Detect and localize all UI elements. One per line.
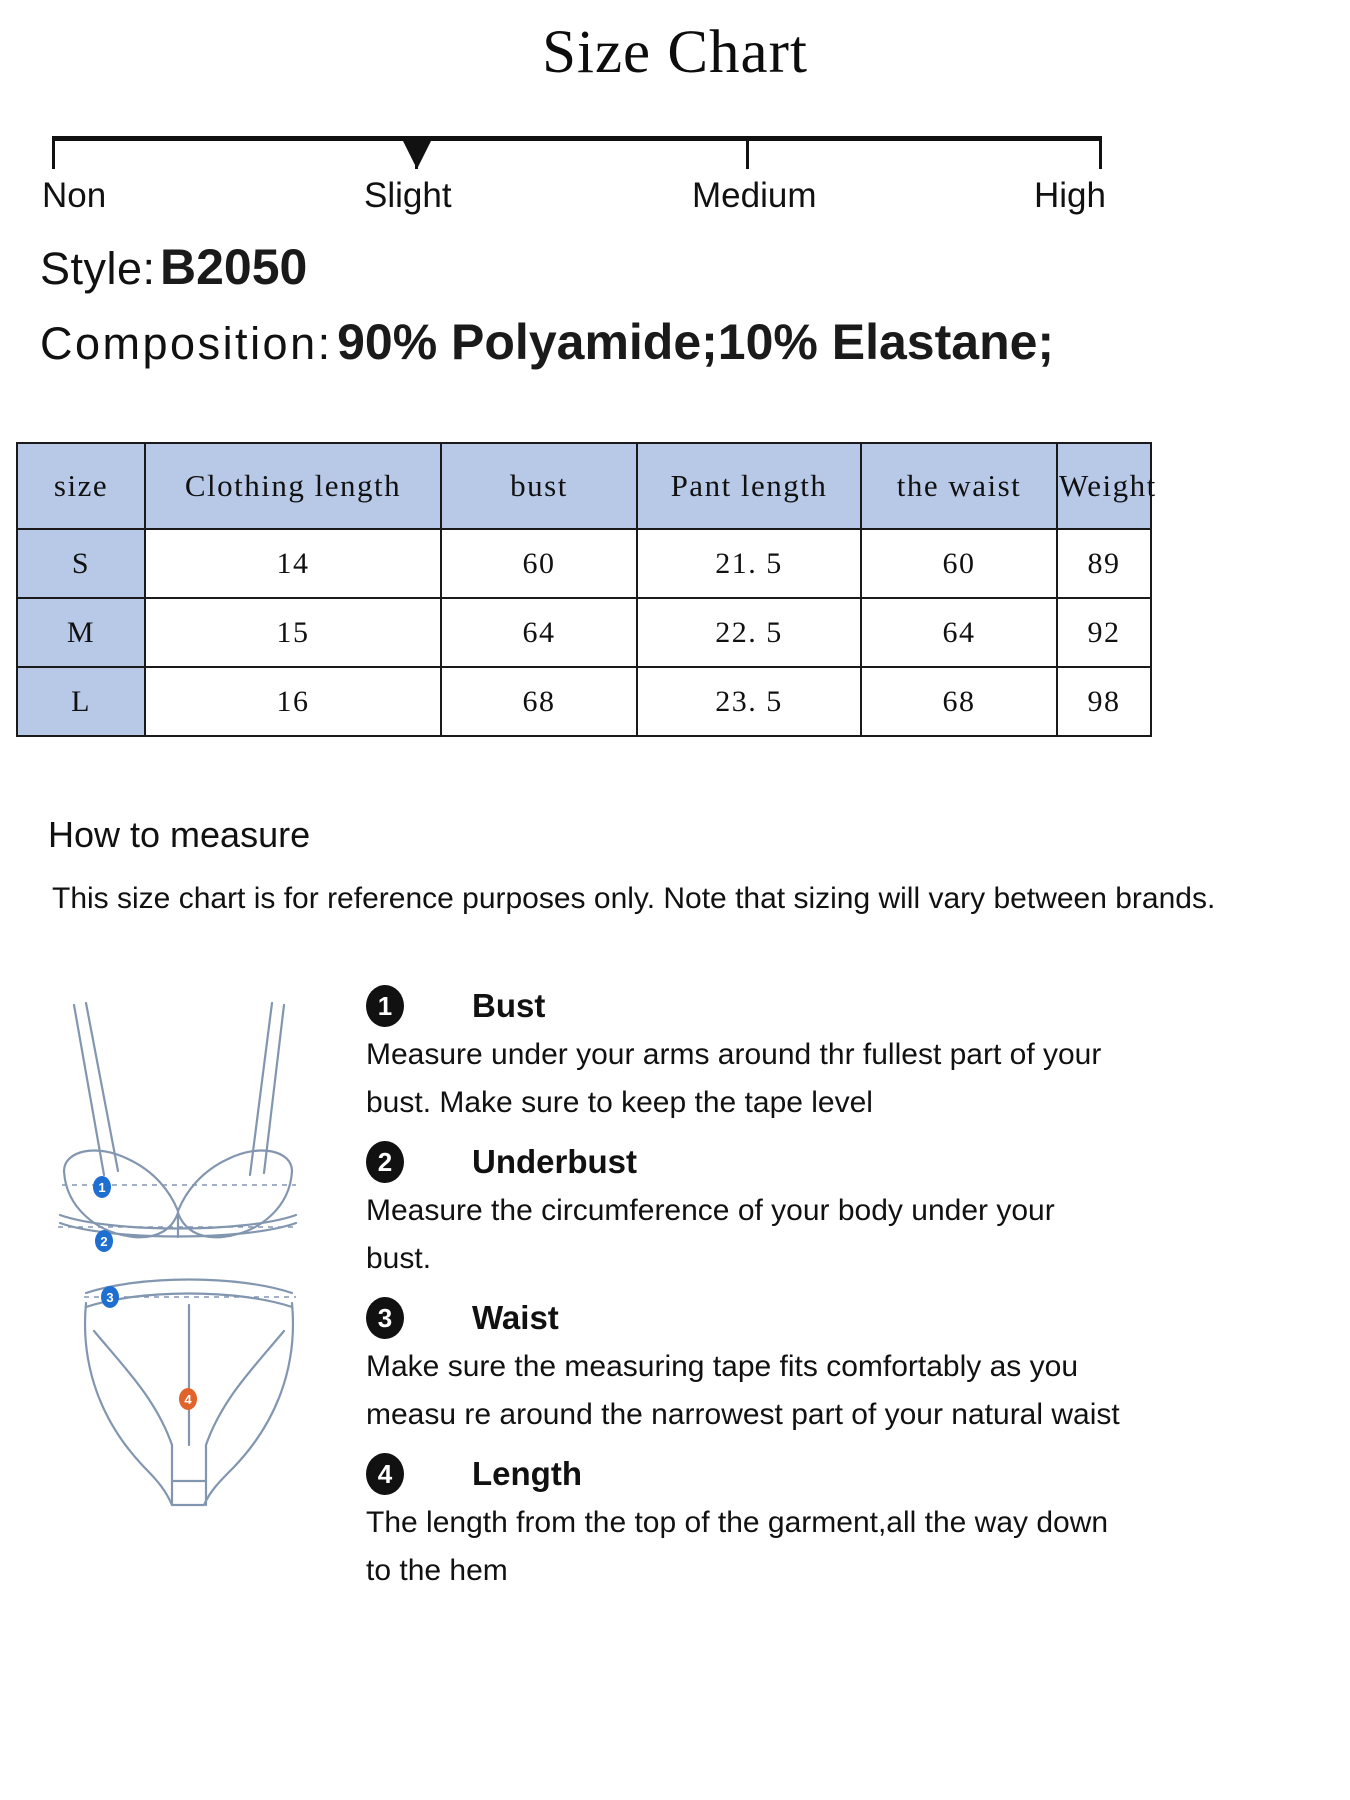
cell-pant-length: 23. 5 — [637, 667, 861, 736]
svg-text:2: 2 — [100, 1234, 107, 1249]
how-to-measure-note: This size chart is for reference purpose… — [52, 882, 1215, 916]
measure-step-underbust: 2 Underbust Measure the circumference of… — [366, 1141, 1146, 1283]
composition-value: 90% Polyamide;10% Elastane; — [337, 314, 1054, 370]
column-header-bust: bust — [441, 443, 637, 529]
how-to-measure-heading: How to measure — [48, 814, 310, 856]
column-header-weight: Weight — [1057, 443, 1151, 529]
column-header-the-waist: the waist — [861, 443, 1057, 529]
step-body-length: The length from the top of the garment,a… — [366, 1499, 1126, 1595]
style-line: Style: B2050 — [40, 238, 307, 296]
cell-size: S — [17, 529, 145, 598]
cell-the-waist: 68 — [861, 667, 1057, 736]
scale-selected-pointer-icon — [402, 139, 432, 169]
garment-illustration: 1 2 3 4 — [40, 975, 340, 1535]
composition-label: Composition: — [40, 318, 333, 369]
step-number-badge-2: 2 — [366, 1141, 404, 1183]
illustration-marker-4: 4 — [179, 1388, 197, 1410]
scale-tick-medium — [746, 141, 749, 169]
measure-steps-list: 1 Bust Measure under your arms around th… — [366, 985, 1146, 1609]
step-number-badge-4: 4 — [366, 1453, 404, 1495]
scale-tick-non — [52, 141, 55, 169]
measure-step-length: 4 Length The length from the top of the … — [366, 1453, 1146, 1595]
cell-size: L — [17, 667, 145, 736]
table-row: M 15 64 22. 5 64 92 — [17, 598, 1151, 667]
step-header: 3 Waist — [366, 1297, 1146, 1339]
cell-clothing-length: 15 — [145, 598, 441, 667]
composition-line: Composition: 90% Polyamide;10% Elastane; — [40, 313, 1054, 371]
step-body-bust: Measure under your arms around thr fulle… — [366, 1031, 1126, 1127]
step-header: 2 Underbust — [366, 1141, 1146, 1183]
svg-text:3: 3 — [106, 1290, 113, 1305]
step-body-underbust: Measure the circumference of your body u… — [366, 1187, 1126, 1283]
step-number-badge-3: 3 — [366, 1297, 404, 1339]
step-body-waist: Make sure the measuring tape fits comfor… — [366, 1343, 1126, 1439]
cell-clothing-length: 14 — [145, 529, 441, 598]
illustration-marker-3: 3 — [101, 1286, 119, 1308]
scale-label-non: Non — [42, 176, 106, 216]
measure-step-waist: 3 Waist Make sure the measuring tape fit… — [366, 1297, 1146, 1439]
size-chart-table: size Clothing length bust Pant length th… — [16, 442, 1152, 737]
support-level-scale: Non Slight Medium High — [52, 136, 1102, 226]
cell-the-waist: 60 — [861, 529, 1057, 598]
step-header: 4 Length — [366, 1453, 1146, 1495]
scale-label-slight: Slight — [364, 176, 452, 216]
step-title-underbust: Underbust — [472, 1143, 637, 1181]
bra-and-brief-diagram-icon: 1 2 3 4 — [40, 975, 340, 1535]
step-title-waist: Waist — [472, 1299, 559, 1337]
column-header-clothing-length: Clothing length — [145, 443, 441, 529]
cell-pant-length: 22. 5 — [637, 598, 861, 667]
scale-label-medium: Medium — [692, 176, 816, 216]
svg-text:1: 1 — [98, 1180, 105, 1195]
cell-bust: 60 — [441, 529, 637, 598]
step-header: 1 Bust — [366, 985, 1146, 1027]
style-value: B2050 — [160, 239, 307, 295]
column-header-pant-length: Pant length — [637, 443, 861, 529]
cell-the-waist: 64 — [861, 598, 1057, 667]
table-header-row: size Clothing length bust Pant length th… — [17, 443, 1151, 529]
cell-bust: 68 — [441, 667, 637, 736]
page-title: Size Chart — [0, 18, 1350, 88]
illustration-marker-1: 1 — [93, 1176, 111, 1198]
cell-weight: 98 — [1057, 667, 1151, 736]
svg-text:4: 4 — [184, 1392, 192, 1407]
cell-weight: 92 — [1057, 598, 1151, 667]
table-row: L 16 68 23. 5 68 98 — [17, 667, 1151, 736]
cell-bust: 64 — [441, 598, 637, 667]
step-number-badge-1: 1 — [366, 985, 404, 1027]
style-label: Style: — [40, 243, 156, 294]
table-row: S 14 60 21. 5 60 89 — [17, 529, 1151, 598]
column-header-size: size — [17, 443, 145, 529]
step-title-bust: Bust — [472, 987, 545, 1025]
illustration-marker-2: 2 — [95, 1230, 113, 1252]
measure-step-bust: 1 Bust Measure under your arms around th… — [366, 985, 1146, 1127]
cell-pant-length: 21. 5 — [637, 529, 861, 598]
scale-rule-line — [52, 136, 1102, 141]
scale-tick-high — [1099, 141, 1102, 169]
scale-label-high: High — [1034, 176, 1106, 216]
cell-clothing-length: 16 — [145, 667, 441, 736]
cell-weight: 89 — [1057, 529, 1151, 598]
step-title-length: Length — [472, 1455, 582, 1493]
cell-size: M — [17, 598, 145, 667]
